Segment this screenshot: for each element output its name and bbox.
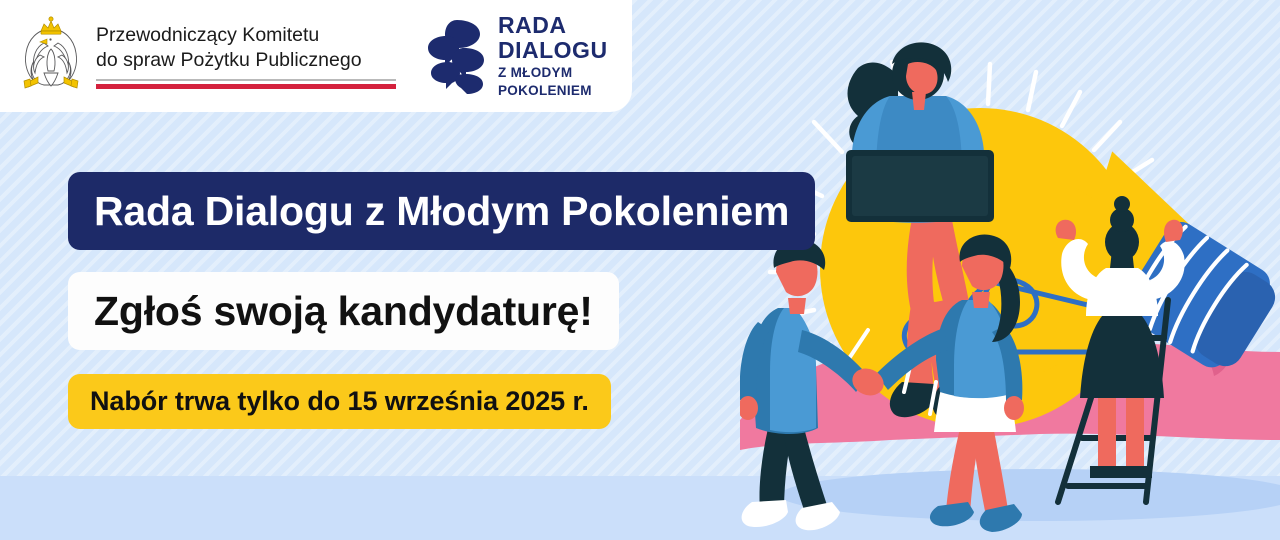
rdmp-line-dialogu: DIALOGU xyxy=(498,38,608,63)
gray-rule xyxy=(96,79,396,81)
rdmp-line-pokoleniem: POKOLENIEM xyxy=(498,83,608,99)
rdmp-wordmark: RADA DIALOGU Z MŁODYM POKOLENIEM xyxy=(498,13,608,99)
lightbulb-teamwork-illustration xyxy=(740,0,1280,540)
ministry-line-2: do spraw Pożytku Publicznego xyxy=(96,48,396,73)
banner-deadline: Nabór trwa tylko do 15 września 2025 r. xyxy=(68,374,611,429)
speech-bubble-plant-mark xyxy=(426,18,488,94)
rdmp-logo: RADA DIALOGU Z MŁODYM POKOLENIEM xyxy=(426,13,608,99)
promo-banner: Przewodniczący Komitetu do spraw Pożytku… xyxy=(0,0,1280,540)
banner-cta: Zgłoś swoją kandydaturę! xyxy=(68,272,619,350)
banner-title: Rada Dialogu z Młodym Pokoleniem xyxy=(68,172,815,250)
banner-deadline-text: Nabór trwa tylko do 15 września 2025 r. xyxy=(90,386,589,417)
ministry-title-block: Przewodniczący Komitetu do spraw Pożytku… xyxy=(96,23,396,89)
flag-rules xyxy=(96,79,396,89)
banner-cta-text: Zgłoś swoją kandydaturę! xyxy=(94,288,593,335)
banner-title-text: Rada Dialogu z Młodym Pokoleniem xyxy=(94,188,789,235)
header-logo-card: Przewodniczący Komitetu do spraw Pożytku… xyxy=(0,0,632,112)
rdmp-line-rada: RADA xyxy=(498,13,608,38)
rdmp-line-zmlodym: Z MŁODYM xyxy=(498,65,608,81)
polish-eagle-emblem xyxy=(14,13,88,99)
ministry-line-1: Przewodniczący Komitetu xyxy=(96,23,396,48)
red-rule xyxy=(96,84,396,89)
